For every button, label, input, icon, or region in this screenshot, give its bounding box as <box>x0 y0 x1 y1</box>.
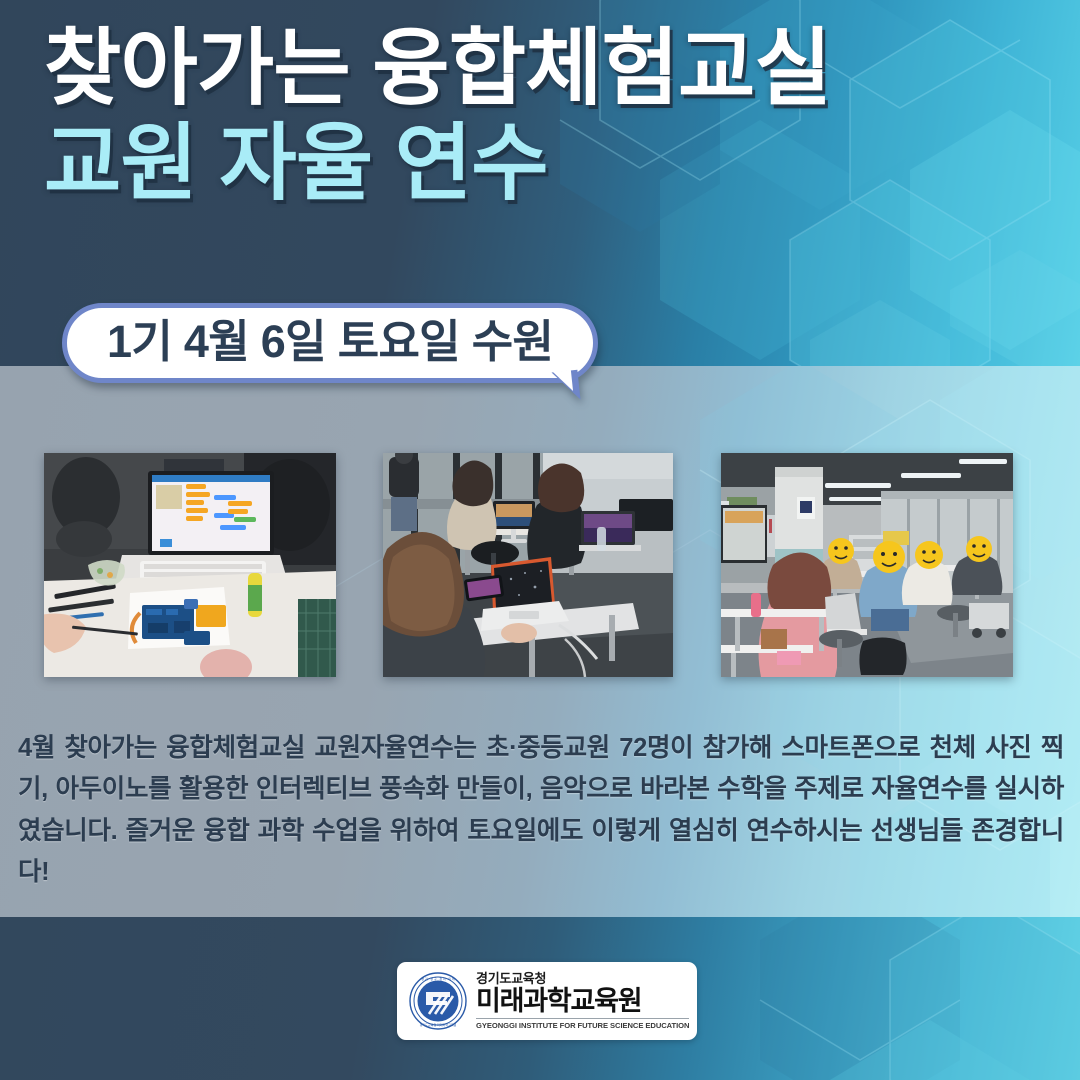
photo-laptop-arduino <box>44 453 336 677</box>
logo-main-text: 미래과학교육원 <box>476 987 689 1016</box>
title-line-1: 찾아가는 융합체험교실 <box>44 24 1004 113</box>
logo-english-text: GYEONGGI INSTITUTE FOR FUTURE SCIENCE ED… <box>476 1018 689 1030</box>
photo-teachers-laptops <box>383 453 673 677</box>
gyeonggi-future-science-emblem-icon: 경 기 · 경 구 · 창 의 · 미 래 경기도교육청 미래과학교육원 <box>409 972 467 1030</box>
title-line-2: 교원 자율 연수 <box>44 119 1004 208</box>
poster-root: 찾아가는 융합체험교실 교원 자율 연수 1기 4월 6일 토요일 수원 <box>0 0 1080 1080</box>
body-description: 4월 찾아가는 융합체험교실 교원자율연수는 초·중등교원 72명이 참가해 스… <box>18 728 1064 893</box>
session-badge-label: 1기 4월 6일 토요일 수원 <box>107 317 553 367</box>
bubble-tail-inner <box>553 371 573 394</box>
session-badge: 1기 4월 6일 토요일 수원 <box>62 303 598 383</box>
logo-text-block: 경기도교육청 미래과학교육원 GYEONGGI INSTITUTE FOR FU… <box>476 972 689 1031</box>
photo-gallery <box>0 453 1080 677</box>
photo-classroom-group <box>721 453 1013 677</box>
logo-sup-text: 경기도교육청 <box>476 972 689 986</box>
svg-text:경 기 · 경 구 · 창 의 · 미 래: 경 기 · 경 구 · 창 의 · 미 래 <box>421 976 455 981</box>
organization-logo: 경 기 · 경 구 · 창 의 · 미 래 경기도교육청 미래과학교육원 경기도… <box>397 962 697 1040</box>
poster-title: 찾아가는 융합체험교실 교원 자율 연수 <box>44 24 1004 208</box>
svg-text:경기도교육청 미래과학교육원: 경기도교육청 미래과학교육원 <box>420 1022 457 1027</box>
session-badge-bubble: 1기 4월 6일 토요일 수원 <box>62 303 598 383</box>
